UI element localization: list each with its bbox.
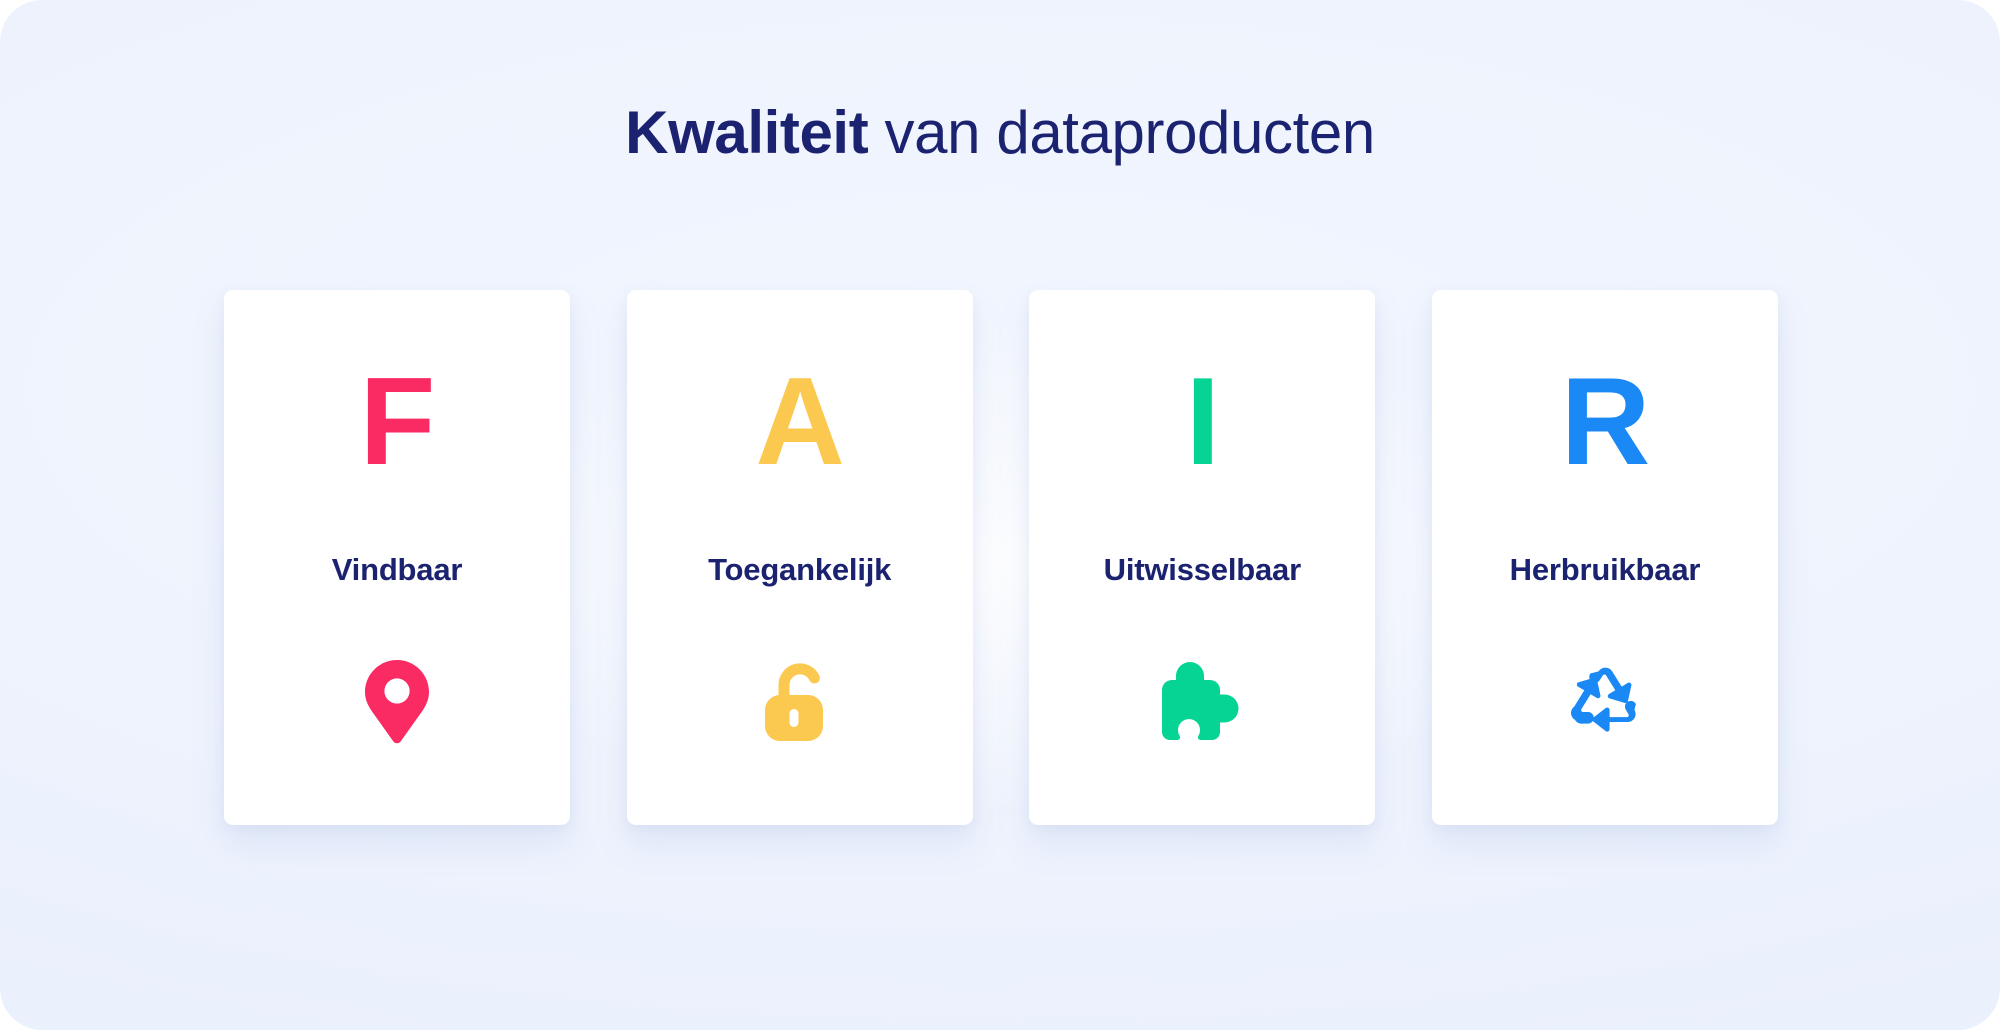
card-uitwisselbaar[interactable]: I Uitwisselbaar (1029, 290, 1375, 825)
puzzle-piece-icon (1159, 658, 1245, 744)
card-letter-a: A (755, 366, 844, 478)
card-letter-r: R (1561, 366, 1650, 478)
card-letter-i: I (1186, 366, 1219, 478)
card-label-herbruikbaar: Herbruikbaar (1510, 552, 1701, 588)
card-list: F Vindbaar A Toegankelijk (224, 290, 1778, 825)
fair-infographic: Kwaliteit van dataproducten F Vindbaar A… (0, 0, 2000, 1030)
recycle-icon (1562, 658, 1648, 744)
card-label-uitwisselbaar: Uitwisselbaar (1104, 552, 1301, 588)
panel-background: Kwaliteit van dataproducten F Vindbaar A… (0, 0, 2000, 1030)
card-label-vindbaar: Vindbaar (332, 552, 462, 588)
page-title: Kwaliteit van dataproducten (0, 96, 2000, 170)
card-letter-f: F (360, 366, 435, 478)
open-padlock-icon (757, 658, 843, 744)
card-label-toegankelijk: Toegankelijk (708, 552, 891, 588)
card-herbruikbaar[interactable]: R Herbruikbaar (1432, 290, 1778, 825)
page-title-strong: Kwaliteit (625, 99, 868, 166)
card-toegankelijk[interactable]: A Toegankelijk (627, 290, 973, 825)
location-pin-icon (354, 658, 440, 744)
page-title-rest: van dataproducten (868, 99, 1375, 166)
card-vindbaar[interactable]: F Vindbaar (224, 290, 570, 825)
